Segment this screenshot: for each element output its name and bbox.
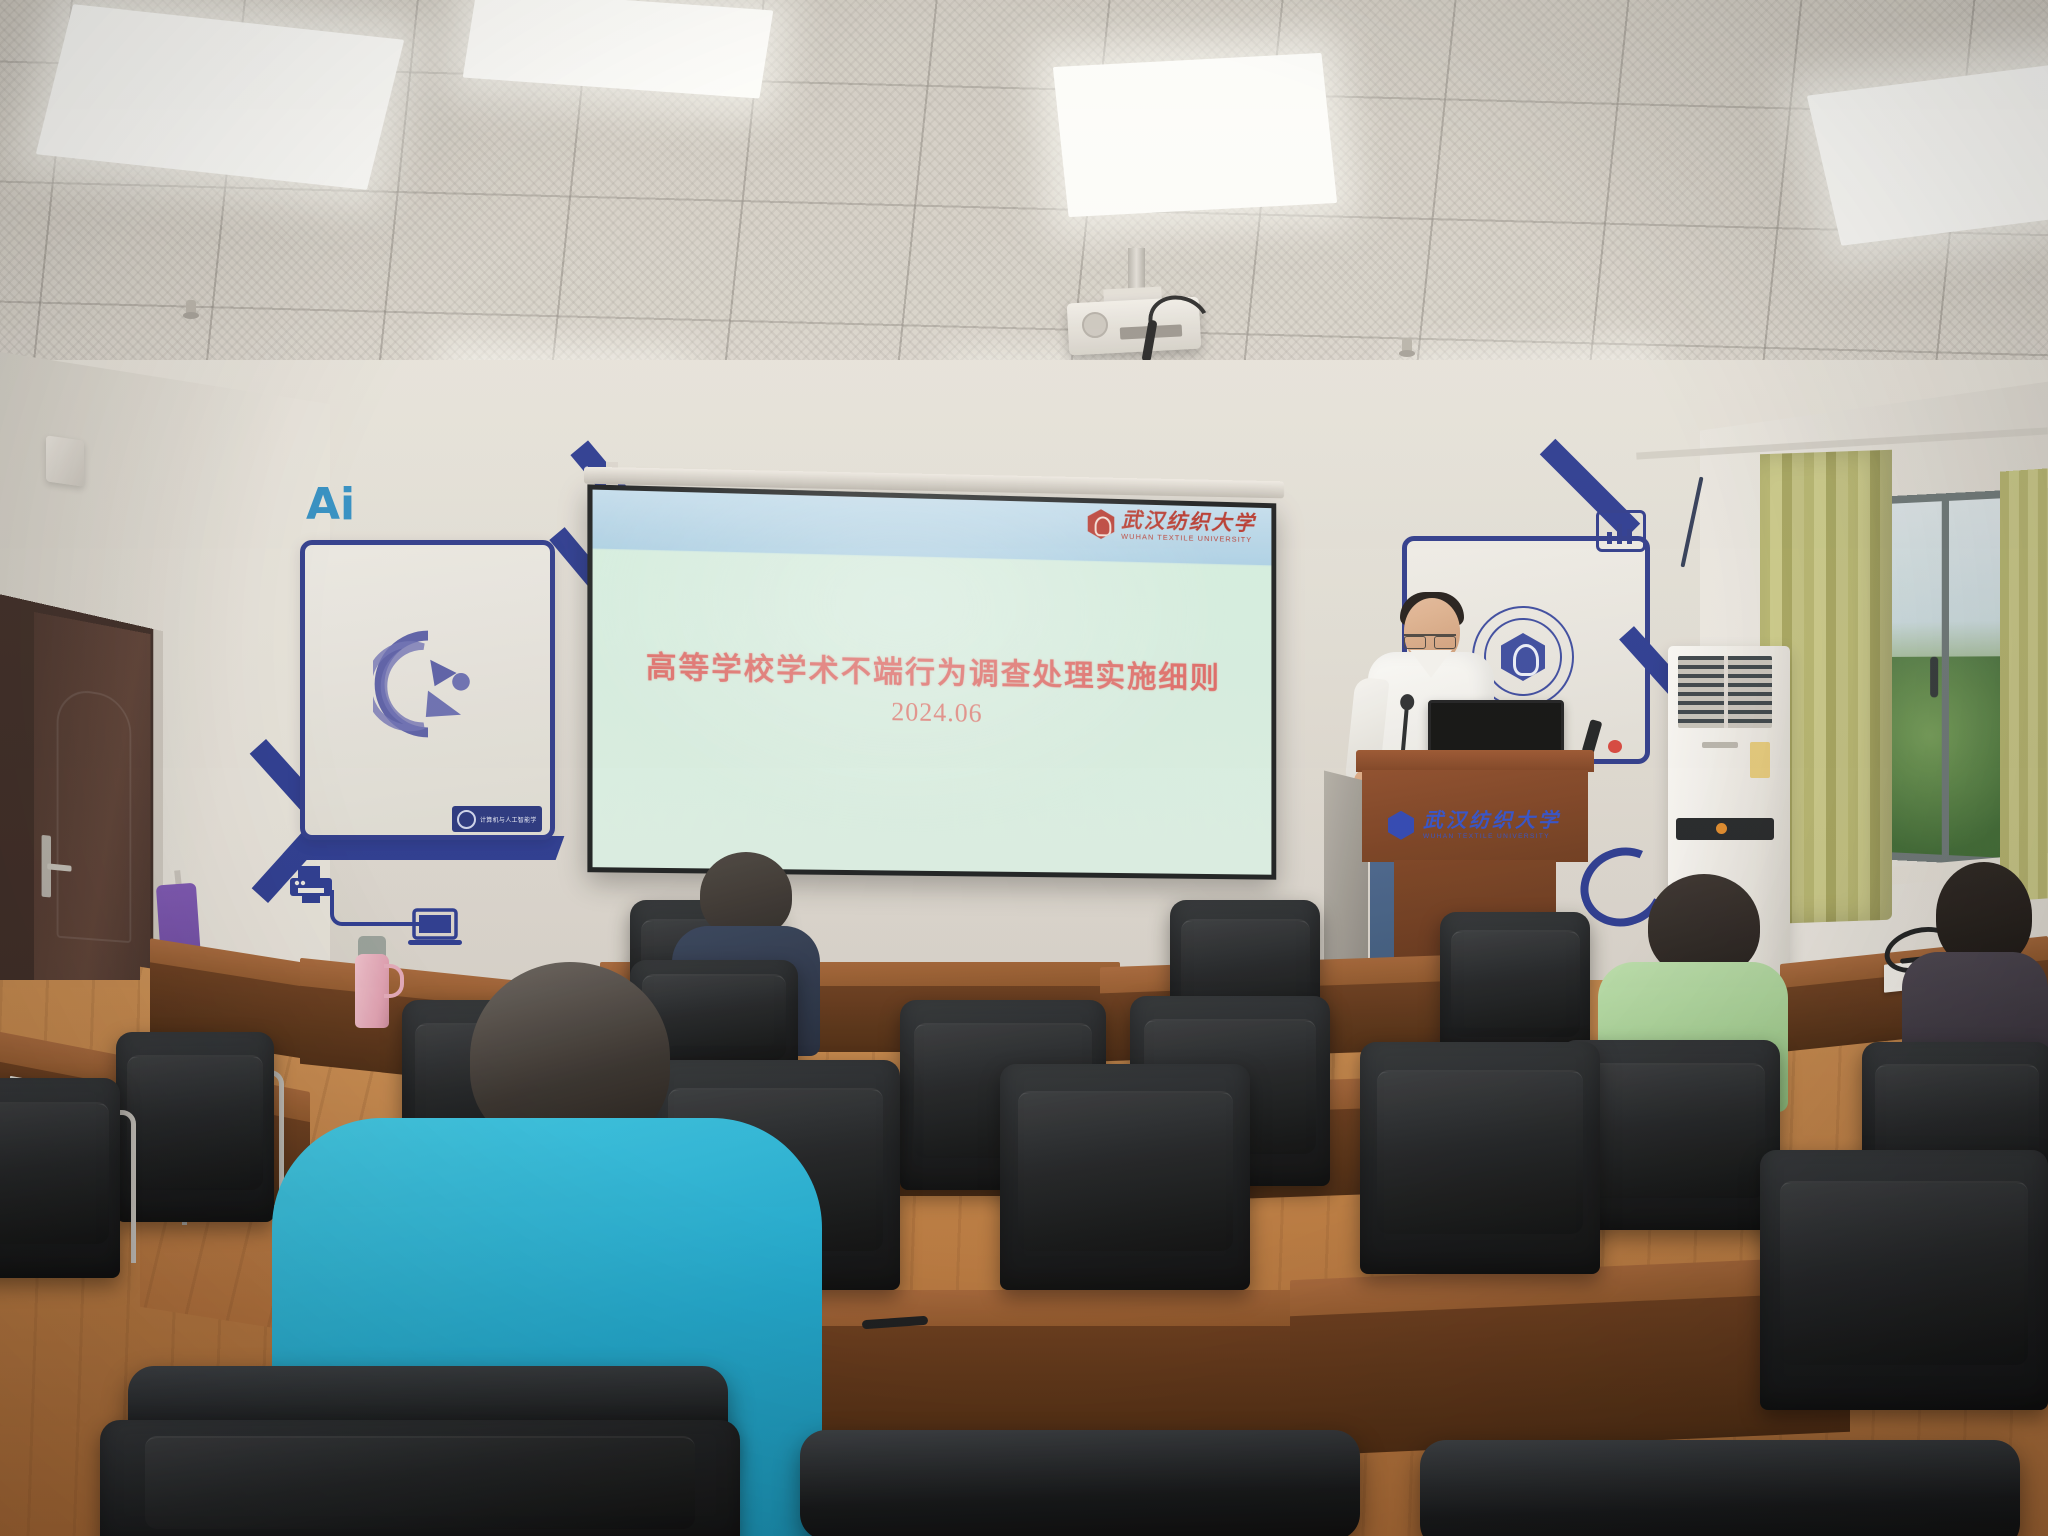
- room-door[interactable]: [34, 612, 151, 1008]
- podium-branding: 武汉纺织大学 WUHAN TEXTILE UNIVERSITY: [1388, 810, 1561, 841]
- chair[interactable]: [0, 1078, 120, 1278]
- chair[interactable]: [100, 1420, 740, 1536]
- ac-control-panel[interactable]: [1676, 818, 1774, 840]
- laptop-icon: [408, 908, 462, 948]
- glasses-icon: [1404, 634, 1456, 647]
- chair-headrest[interactable]: [1420, 1440, 2020, 1536]
- seal-hex-mark: [1501, 633, 1545, 681]
- sprinkler-head-icon: [186, 300, 196, 316]
- university-logo-mark-icon: [1088, 509, 1115, 539]
- bar-chart-icon: [1596, 510, 1646, 552]
- window-mullion: [1942, 501, 1949, 855]
- slide-date: 2024.06: [593, 692, 1272, 734]
- chair[interactable]: [116, 1032, 274, 1222]
- chair[interactable]: [1360, 1042, 1600, 1274]
- ai-wall-panel: [300, 540, 555, 840]
- slide-title: 高等学校学术不端行为调查处理实施细则: [593, 641, 1272, 699]
- projection-screen: 武汉纺织大学 WUHAN TEXTILE UNIVERSITY 高等学校学术不端…: [587, 484, 1276, 879]
- podium-top-surface: [1356, 750, 1594, 772]
- window-curtain: [2000, 468, 2048, 901]
- podium-hex-logo-icon: [1388, 811, 1414, 840]
- door-panel-molding: [57, 686, 132, 943]
- wall-speaker-icon: [46, 435, 84, 486]
- podium-brand-chinese: 武汉纺织大学: [1423, 810, 1561, 830]
- ac-energy-label: [1750, 742, 1770, 778]
- podium-brand-english: WUHAN TEXTILE UNIVERSITY: [1423, 834, 1561, 841]
- ai-circular-logo-icon: [373, 629, 483, 739]
- ac-brand-label: [1702, 742, 1738, 748]
- ai-letters-icon: Ai: [306, 486, 355, 523]
- department-logo-icon: [457, 810, 476, 829]
- presentation-room-photo: Ai 计算机与人工智能学院: [0, 0, 2048, 1536]
- slide-logo-chinese: 武汉纺织大学: [1121, 509, 1256, 533]
- red-marker-cap: [1608, 740, 1622, 753]
- window-handle[interactable]: [1930, 657, 1938, 698]
- ceiling-light-panel: [1053, 53, 1337, 217]
- presentation-slide: 武汉纺织大学 WUHAN TEXTILE UNIVERSITY 高等学校学术不端…: [593, 490, 1272, 875]
- slide-university-logo: 武汉纺织大学 WUHAN TEXTILE UNIVERSITY: [1088, 508, 1256, 544]
- chair[interactable]: [1440, 912, 1590, 1062]
- ac-vent-grille: [1678, 656, 1772, 728]
- chair[interactable]: [1760, 1150, 2048, 1410]
- sprinkler-head-icon: [1402, 338, 1412, 354]
- podium-front-face: 武汉纺织大学 WUHAN TEXTILE UNIVERSITY: [1362, 770, 1588, 862]
- chair-headrest[interactable]: [800, 1430, 1360, 1536]
- printer-icon: [288, 866, 334, 906]
- department-badge: 计算机与人工智能学院: [452, 806, 542, 832]
- wall-circuit-line: [330, 890, 420, 926]
- table: [760, 1290, 1320, 1330]
- projector-lens-icon: [1082, 312, 1108, 338]
- department-badge-label: 计算机与人工智能学院: [480, 815, 537, 824]
- ai-letter-a: Ai: [306, 486, 355, 523]
- chair[interactable]: [1000, 1064, 1250, 1290]
